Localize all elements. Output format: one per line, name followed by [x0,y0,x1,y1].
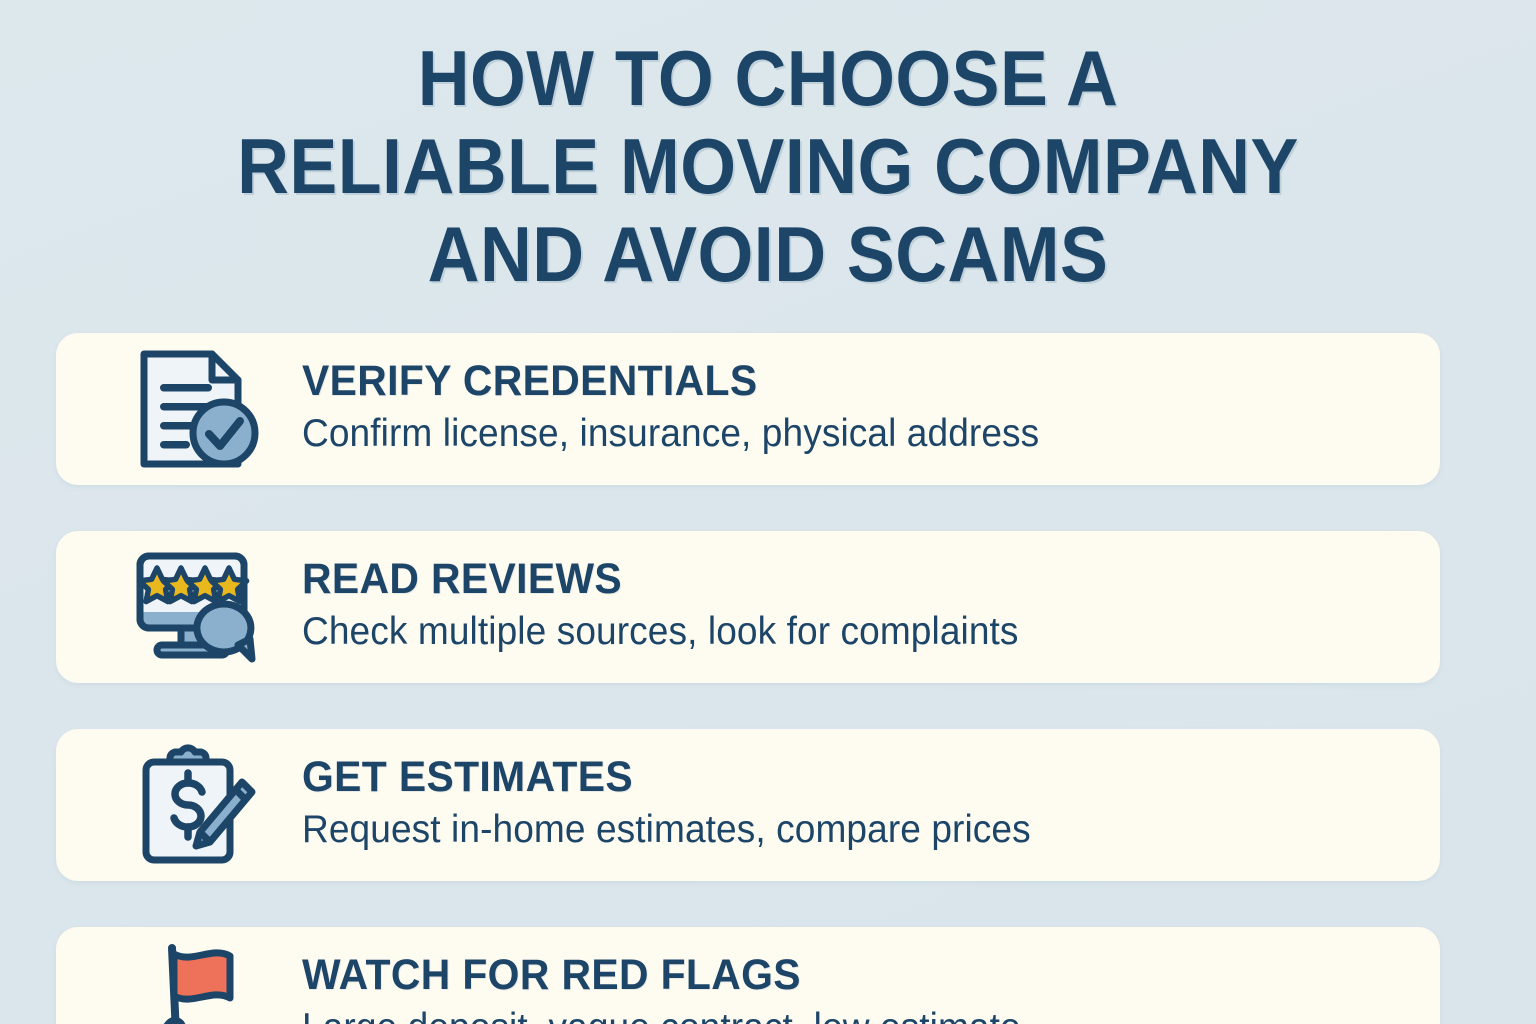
tip-card-read-reviews[interactable]: READ REVIEWS Check multiple sources, loo… [56,531,1440,683]
title-line-3: AND AVOID SCAMS [61,210,1474,298]
clipboard-dollar-pencil-icon [56,729,246,881]
tip-subtitle: Large deposit, vague contract, low estim… [302,1004,1021,1024]
tips-list: VERIFY CREDENTIALS Confirm license, insu… [56,333,1440,1024]
document-check-icon [56,333,246,485]
tip-heading: READ REVIEWS [302,554,1019,604]
tip-card-text: WATCH FOR RED FLAGS Large deposit, vague… [246,950,1059,1024]
tip-subtitle: Check multiple sources, look for complai… [302,608,1019,656]
tip-card-verify-credentials[interactable]: VERIFY CREDENTIALS Confirm license, insu… [56,333,1440,485]
tip-heading: WATCH FOR RED FLAGS [302,950,1021,1000]
tip-heading: VERIFY CREDENTIALS [302,356,1039,406]
tip-card-text: GET ESTIMATES Request in-home estimates,… [246,752,1069,858]
tip-subtitle: Confirm license, insurance, physical add… [302,410,1039,458]
tip-card-text: READ REVIEWS Check multiple sources, loo… [246,554,1056,660]
tip-card-watch-for-red-flags[interactable]: WATCH FOR RED FLAGS Large deposit, vague… [56,927,1440,1024]
title-line-1: HOW TO CHOOSE A [61,34,1474,122]
infographic-poster: HOW TO CHOOSE A RELIABLE MOVING COMPANY … [0,0,1536,1024]
tip-heading: GET ESTIMATES [302,752,1031,802]
title-line-2: RELIABLE MOVING COMPANY [61,122,1474,210]
tip-card-text: VERIFY CREDENTIALS Confirm license, insu… [246,356,1078,462]
hand-red-flag-icon [56,927,246,1024]
monitor-stars-review-icon [56,531,246,683]
page-title: HOW TO CHOOSE A RELIABLE MOVING COMPANY … [0,0,1536,298]
tip-card-get-estimates[interactable]: GET ESTIMATES Request in-home estimates,… [56,729,1440,881]
tip-subtitle: Request in-home estimates, compare price… [302,806,1031,854]
